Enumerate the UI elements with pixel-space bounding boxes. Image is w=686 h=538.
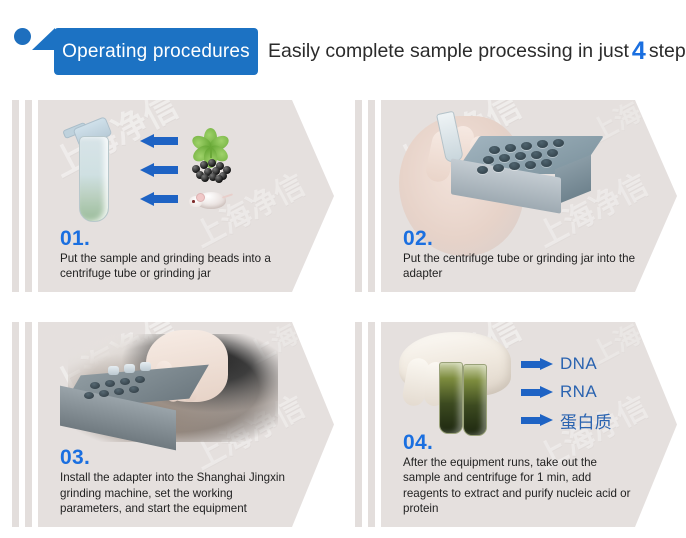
card-accent-bar [368, 322, 375, 527]
card-text-block: 02. Put the centrifuge tube or grinding … [403, 228, 637, 282]
header-sentence-before: Easily complete sample processing in jus… [268, 40, 629, 63]
card-accent-bar [25, 322, 32, 527]
page-header: Operating procedures Easily complete sam… [0, 0, 686, 88]
card-accent-bar [368, 100, 375, 292]
output-item-protein: 蛋白质 [521, 406, 661, 434]
output-label: 蛋白质 [560, 408, 612, 433]
centrifuge-tube-icon [73, 122, 113, 222]
grinding-beads-icon [188, 155, 234, 181]
card-panel: 上海净信 上海净信 [38, 100, 334, 292]
step-card-01: 上海净信 上海净信 [12, 100, 334, 292]
adapter-block-icon [467, 136, 591, 206]
card-text-block: 03. Install the adapter into the Shangha… [60, 447, 294, 517]
header-sentence-after: steps: [649, 40, 686, 63]
operating-procedures-badge: Operating procedures [54, 28, 258, 75]
step-description: After the equipment runs, take out the s… [403, 455, 637, 517]
step-number: 04. [403, 432, 637, 454]
step-description: Put the centrifuge tube or grinding jar … [403, 251, 637, 282]
card-panel: 上海净信 上海净信 上海净信 [381, 100, 677, 292]
card-accent-bar [355, 322, 362, 527]
badge-tail-icon [32, 28, 55, 50]
header-sentence: Easily complete sample processing in jus… [268, 28, 686, 75]
output-label: RNA [560, 382, 597, 402]
card-accent-bar [12, 322, 19, 527]
step-count: 4 [629, 39, 649, 64]
sample-tube-icon [439, 362, 463, 434]
white-mouse-icon [188, 186, 234, 212]
arrow-right-icon [521, 358, 553, 370]
step-number: 01. [60, 228, 294, 250]
card-accent-bar [355, 100, 362, 292]
steps-grid: 上海净信 上海净信 [0, 88, 686, 538]
output-item-rna: RNA [521, 378, 661, 406]
card-accent-bar [25, 100, 32, 292]
green-leaf-icon [190, 122, 230, 158]
card-panel: 上海净信 上海净信 上海净信 DNA [381, 322, 677, 527]
step-card-02: 上海净信 上海净信 上海净信 [355, 100, 677, 292]
output-list: DNA RNA 蛋白质 [521, 350, 661, 434]
step-description: Install the adapter into the Shanghai Ji… [60, 470, 294, 517]
bullet-dot-icon [14, 28, 31, 45]
card-panel: 上海净信 上海净信 上海净信 [38, 322, 334, 527]
step-number: 03. [60, 447, 294, 469]
step-number: 02. [403, 228, 637, 250]
output-item-dna: DNA [521, 350, 661, 378]
arrow-left-icon [140, 192, 178, 205]
sample-tube-icon [463, 364, 487, 436]
step-description: Put the sample and grinding beads into a… [60, 251, 294, 282]
arrow-left-icon [140, 163, 178, 176]
card-text-block: 01. Put the sample and grinding beads in… [60, 228, 294, 282]
arrow-right-icon [521, 414, 553, 426]
arrow-left-icon [140, 134, 178, 147]
step-card-03: 上海净信 上海净信 上海净信 [12, 322, 334, 527]
badge-label: Operating procedures [54, 28, 258, 75]
output-label: DNA [560, 354, 597, 374]
adapter-block-icon [74, 370, 202, 442]
arrow-right-icon [521, 386, 553, 398]
card-accent-bar [12, 100, 19, 292]
step-card-04: 上海净信 上海净信 上海净信 DNA [355, 322, 677, 527]
card-text-block: 04. After the equipment runs, take out t… [403, 432, 637, 517]
